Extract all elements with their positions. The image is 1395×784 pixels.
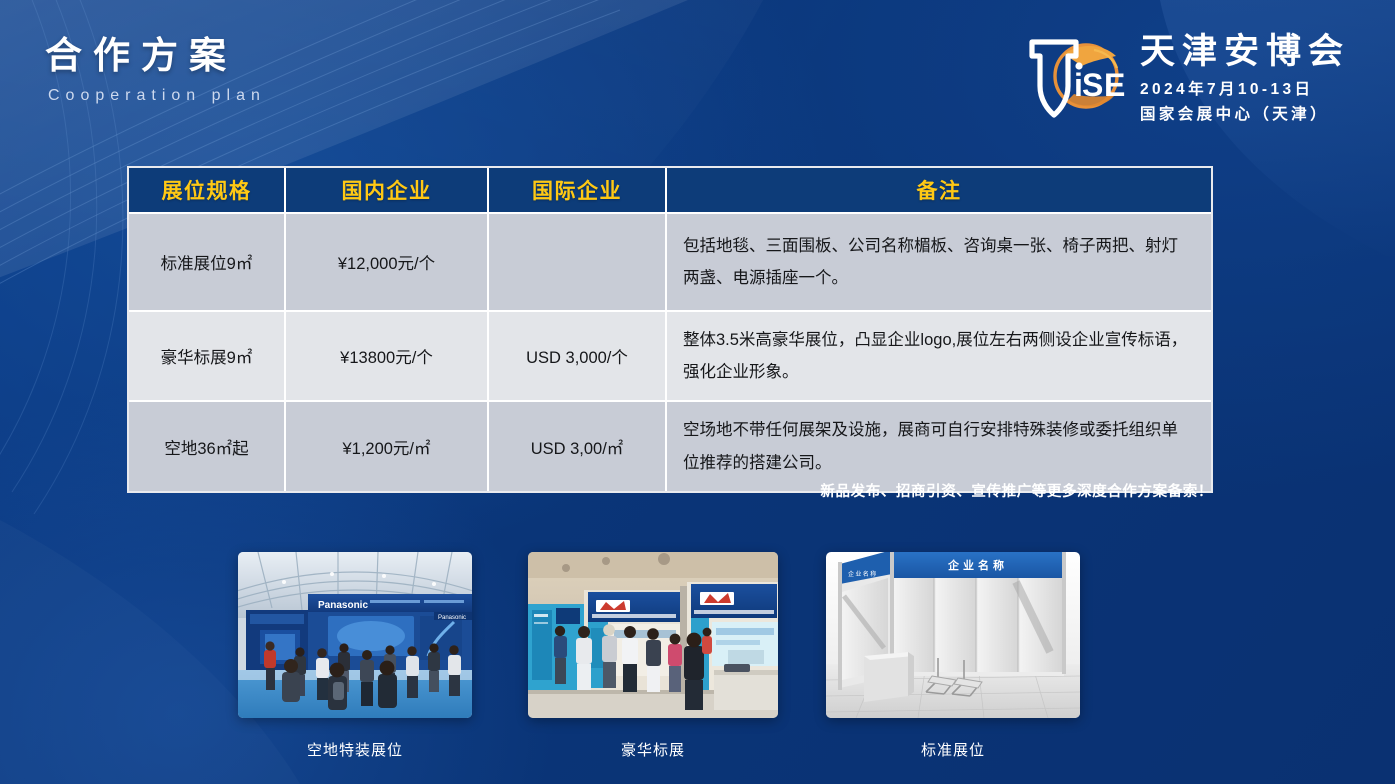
table-row: 空地36㎡起 ¥1,200元/㎡ USD 3,00/㎡ 空场地不带任何展架及设施… [129, 400, 1211, 490]
side-fascia-text: 企业名称 [848, 570, 878, 578]
table-header-row: 展位规格 国内企业 国际企业 备注 [129, 168, 1211, 212]
page-title: 合作方案 Cooperation plan [45, 35, 266, 105]
gallery-item: 企业名称 企业名称 [826, 552, 1080, 760]
cell-spec: 空地36㎡起 [129, 400, 286, 490]
column-header-domestic: 国内企业 [286, 168, 489, 212]
page-title-en: Cooperation plan [48, 87, 266, 105]
table-row: 标准展位9㎡ ¥12,000元/个 包括地毯、三面围板、公司名称楣板、咨询桌一张… [129, 212, 1211, 310]
slide-root: 合作方案 Cooperation plan i S [0, 0, 1395, 784]
event-logo: i S E 天津安博会 2024年7月10-13日 国家会展中心（天津） [1024, 30, 1350, 124]
table-row: 豪华标展9㎡ ¥13800元/个 USD 3,000/个 整体3.5米高豪华展位… [129, 310, 1211, 400]
gallery-caption: 空地特装展位 [238, 739, 472, 760]
gallery-caption: 豪华标展 [528, 739, 778, 760]
table-footnote: 新品发布、招商引资、宣传推广等更多深度合作方案备索！ [820, 480, 1213, 501]
booth-gallery: Panasonic Panasonic [0, 552, 1395, 767]
cell-spec: 标准展位9㎡ [129, 212, 286, 310]
cell-domestic: ¥1,200元/㎡ [286, 400, 489, 490]
cell-note: 包括地毯、三面围板、公司名称楣板、咨询桌一张、椅子两把、射灯两盏、电源插座一个。 [667, 212, 1211, 310]
tise-shield-icon: i S E [1024, 30, 1128, 122]
booth-fascia-text: 企业名称 [947, 558, 1008, 572]
svg-text:S: S [1082, 67, 1103, 103]
event-logo-text: 天津安博会 2024年7月10-13日 国家会展中心（天津） [1140, 30, 1350, 124]
gallery-caption: 标准展位 [826, 739, 1080, 760]
cell-note: 整体3.5米高豪华展位，凸显企业logo,展位左右两侧设企业宣传标语，强化企业形… [667, 310, 1211, 400]
cell-domestic: ¥13800元/个 [286, 310, 489, 400]
cell-international [489, 212, 667, 310]
event-name-cn: 天津安博会 [1140, 34, 1350, 71]
cell-international: USD 3,000/个 [489, 310, 667, 400]
column-header-international: 国际企业 [489, 168, 667, 212]
deluxe-booth-photo [528, 552, 778, 718]
svg-text:E: E [1104, 67, 1125, 103]
page-title-cn: 合作方案 [45, 35, 266, 78]
cell-note: 空场地不带任何展架及设施，展商可自行安排特殊装修或委托组织单位推荐的搭建公司。 [667, 400, 1211, 490]
column-header-note: 备注 [667, 168, 1211, 212]
cell-domestic: ¥12,000元/个 [286, 212, 489, 310]
exhibition-hall-photo: Panasonic Panasonic [238, 552, 472, 718]
svg-text:Panasonic: Panasonic [438, 615, 466, 621]
column-header-spec: 展位规格 [129, 168, 286, 212]
event-venue: 国家会展中心（天津） [1140, 102, 1350, 124]
gallery-item: 豪华标展 [528, 552, 778, 760]
standard-booth-render: 企业名称 企业名称 [826, 552, 1080, 718]
booth-pricing-table: 展位规格 国内企业 国际企业 备注 标准展位9㎡ ¥12,000元/个 包括地毯… [127, 166, 1213, 493]
svg-text:Panasonic: Panasonic [318, 600, 368, 611]
cell-international: USD 3,00/㎡ [489, 400, 667, 490]
gallery-item: Panasonic Panasonic [238, 552, 472, 760]
svg-text:i: i [1074, 67, 1082, 103]
event-date: 2024年7月10-13日 [1140, 77, 1350, 99]
cell-spec: 豪华标展9㎡ [129, 310, 286, 400]
